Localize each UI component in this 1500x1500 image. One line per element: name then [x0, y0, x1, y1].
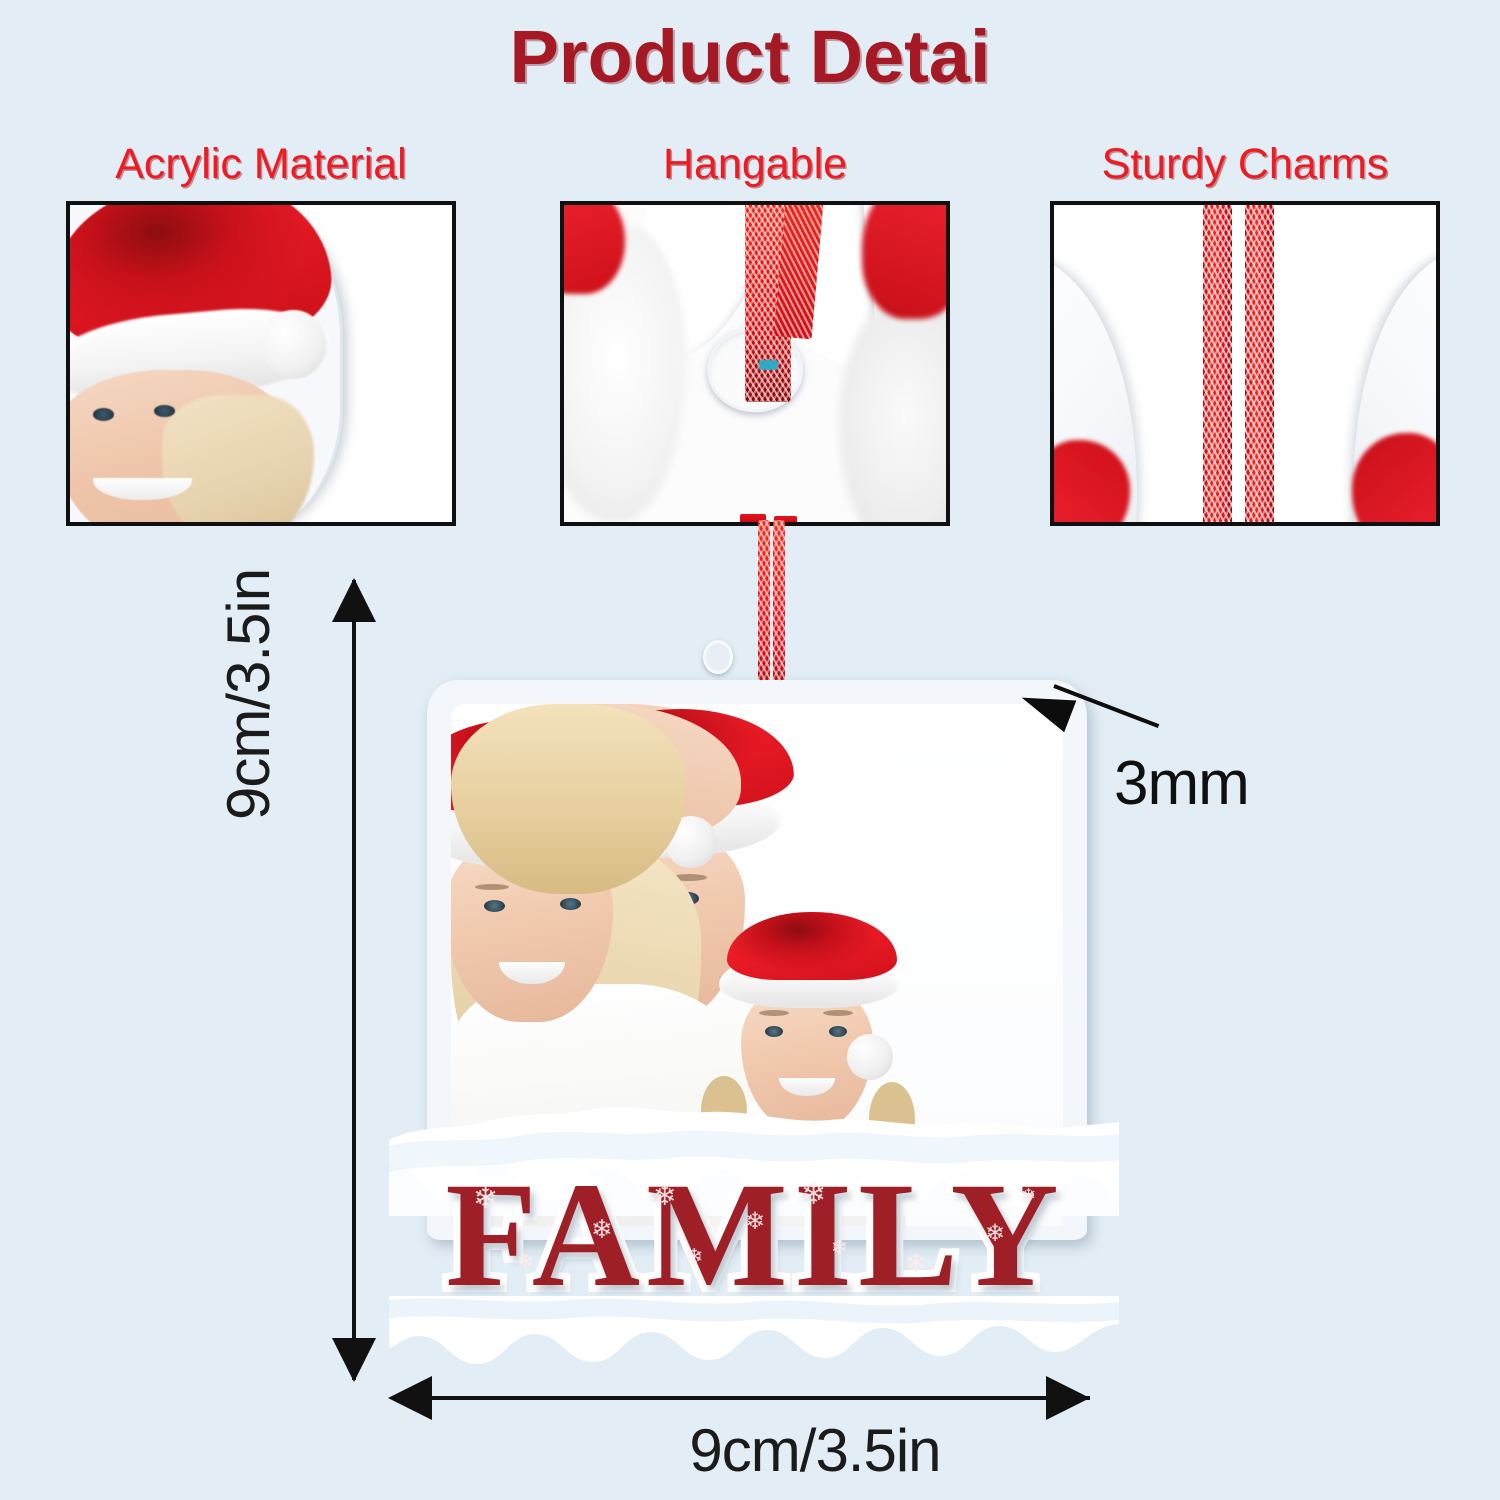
feature-thumb-acrylic-material	[66, 201, 456, 526]
santa-hat-red-right	[862, 201, 950, 319]
feature-acrylic-material: Acrylic Material	[66, 140, 456, 526]
dimension-arrow-right	[1046, 1376, 1090, 1420]
santa-hat-pompom	[261, 310, 326, 380]
feature-sturdy-charms: Sturdy Charms	[1050, 140, 1440, 526]
feature-label-acrylic-material: Acrylic Material	[66, 140, 456, 189]
child-brow-left	[759, 1010, 789, 1016]
woman-eye-left	[93, 408, 114, 421]
mother-eye-left	[484, 900, 505, 912]
feature-thumb-sturdy-charms	[1050, 201, 1440, 526]
feature-label-hangable: Hangable	[560, 140, 950, 189]
child-hair	[451, 704, 687, 894]
feature-thumb-hangable	[560, 201, 950, 526]
feature-label-sturdy-charms: Sturdy Charms	[1050, 140, 1440, 189]
mother-eye-right	[560, 898, 581, 910]
dimension-line-horizontal	[400, 1396, 1090, 1400]
ornament-product-image: FAMILY ❄ ❄ ❄ ❄ ❄ ❄ ❄ ❄ ❄ ❄ ❄	[385, 520, 1125, 1380]
child-hat-pompom	[847, 1034, 893, 1080]
ribbon-cord-a	[1203, 201, 1232, 526]
snow-drift-lower	[389, 1286, 1119, 1376]
dimension-label-height: 9cm/3.5in	[214, 569, 283, 820]
child-hat-red	[727, 912, 897, 980]
dimension-arrow-down	[332, 1338, 376, 1382]
product-detail-page: Product Detai Acrylic Material Hangable	[0, 0, 1500, 1500]
thickness-label: 3mm	[1114, 748, 1249, 819]
child-eye-left	[765, 1026, 783, 1037]
woman-hair	[162, 395, 315, 526]
feature-row: Acrylic Material Hangable	[0, 140, 1500, 560]
person-child	[451, 704, 687, 894]
dimension-line-vertical	[352, 580, 356, 1380]
child-eye-right	[829, 1026, 847, 1037]
dimension-label-width-wrap: 9cm/3.5in	[0, 1416, 1500, 1485]
dimension-label-width: 9cm/3.5in	[689, 1417, 940, 1484]
page-title: Product Detai	[0, 14, 1500, 99]
ribbon-cord-b	[1245, 201, 1274, 526]
hang-hole	[703, 640, 733, 674]
feature-hangable: Hangable	[560, 140, 950, 526]
child-brow-right	[823, 1010, 853, 1016]
ribbon-tip-accent	[759, 360, 778, 370]
